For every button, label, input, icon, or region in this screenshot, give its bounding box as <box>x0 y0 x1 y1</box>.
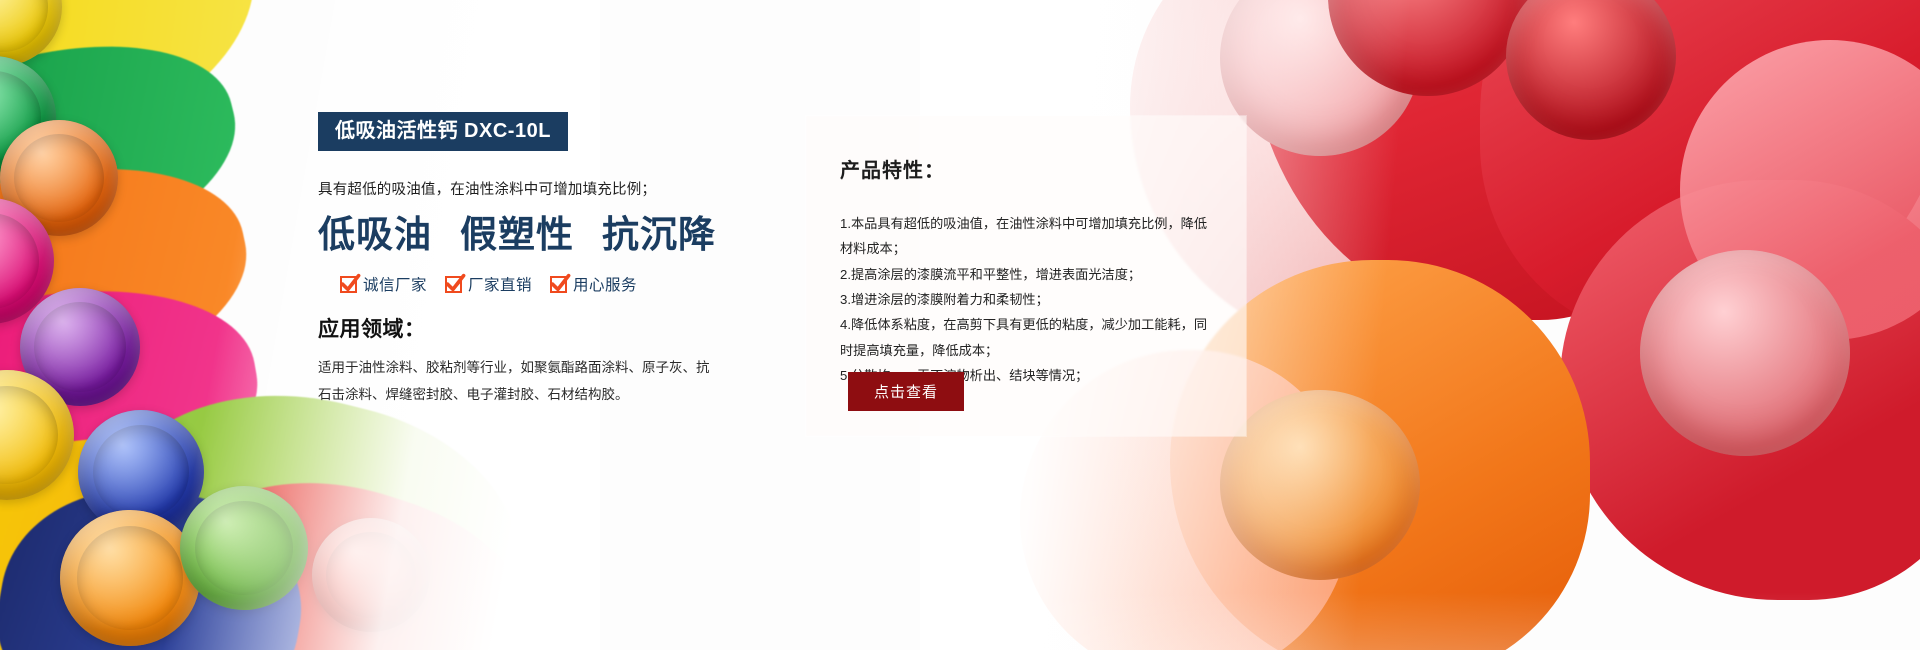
headline-keyword-1: 低吸油 <box>318 214 432 255</box>
feature-label-2: 厂家直销 <box>468 273 532 295</box>
checkbox-checked-icon <box>550 276 567 293</box>
feature-item-2: 厂家直销 <box>445 273 532 295</box>
checkbox-checked-icon <box>340 276 357 293</box>
panel-feature-item-1: 1.本品具有超低的吸油值，在油性涂料中可增加填充比例，降低材料成本； <box>840 211 1220 262</box>
feature-badge-row: 诚信厂家 厂家直销 用心服务 <box>340 273 718 295</box>
banner-stage: 低吸油活性钙 DXC-10L 具有超低的吸油值，在油性涂料中可增加填充比例； 低… <box>0 0 1920 650</box>
headline-keyword-2: 假塑性 <box>460 214 574 255</box>
feature-label-3: 用心服务 <box>573 273 637 295</box>
application-area-heading: 应用领域： <box>318 313 718 343</box>
application-area-body: 适用于油性涂料、胶粘剂等行业，如聚氨酯路面涂料、原子灰、抗石击涂料、焊缝密封胶、… <box>318 355 714 408</box>
headline-keyword-3: 抗沉降 <box>602 214 716 255</box>
product-title-badge: 低吸油活性钙 DXC-10L <box>318 112 568 151</box>
panel-feature-list: 1.本品具有超低的吸油值，在油性涂料中可增加填充比例，降低材料成本； 2.提高涂… <box>840 211 1220 388</box>
product-features-panel: 产品特性： 1.本品具有超低的吸油值，在油性涂料中可增加填充比例，降低材料成本；… <box>806 116 1246 436</box>
view-details-button[interactable]: 点击查看 <box>848 372 964 411</box>
feature-item-1: 诚信厂家 <box>340 273 427 295</box>
panel-feature-item-3: 3.增进涂层的漆膜附着力和柔韧性； <box>840 287 1220 312</box>
feature-item-3: 用心服务 <box>550 273 637 295</box>
checkbox-checked-icon <box>445 276 462 293</box>
panel-inner: 产品特性： 1.本品具有超低的吸油值，在油性涂料中可增加填充比例，降低材料成本；… <box>806 116 1246 388</box>
left-content-column: 低吸油活性钙 DXC-10L 具有超低的吸油值，在油性涂料中可增加填充比例； 低… <box>318 112 718 408</box>
panel-title: 产品特性： <box>840 154 1216 183</box>
headline-keywords: 低吸油假塑性抗沉降 <box>318 214 718 255</box>
panel-feature-item-2: 2.提高涂层的漆膜流平和平整性，增进表面光洁度； <box>840 262 1220 287</box>
feature-label-1: 诚信厂家 <box>363 273 427 295</box>
product-subtitle: 具有超低的吸油值，在油性涂料中可增加填充比例； <box>318 178 718 199</box>
panel-feature-item-4: 4.降低体系粘度，在高剪下具有更低的粘度，减少加工能耗，同时提高填充量，降低成本… <box>840 312 1220 363</box>
